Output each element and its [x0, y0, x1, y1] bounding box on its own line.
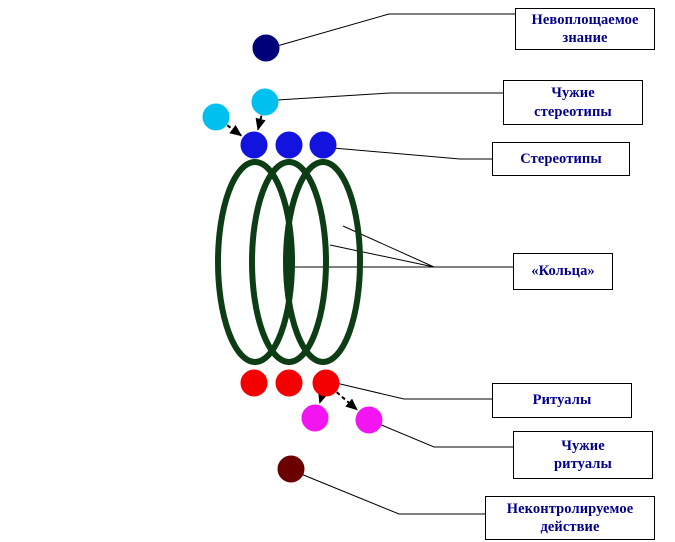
node-ritual-2[interactable]: Ритуалы: [276, 370, 302, 396]
connector-foreign-stereotypes: [277, 93, 503, 100]
node-foreign-stereotype-2[interactable]: Чужие стереотипы: [252, 89, 278, 115]
connector-lines: [277, 14, 515, 514]
node-foreign-stereotype-1[interactable]: Чужие стереотипы: [203, 104, 229, 130]
ring-shapes: [218, 162, 360, 362]
arrow-foreign-stereo-2-to-stereo: [258, 116, 262, 130]
node-uncontrolled-action[interactable]: Неконтролируемое действие: [278, 456, 304, 482]
arrow-foreign-stereo-1-to-stereo: [227, 125, 241, 135]
connector-unrealized-knowledge: [277, 14, 515, 46]
node-stereotype-2[interactable]: Стереотипы: [276, 132, 302, 158]
label-box-rings[interactable]: «Кольца»: [513, 253, 613, 290]
label-box-foreign-stereotypes[interactable]: Чужие стереотипы: [503, 80, 643, 125]
connector-foreign-rituals: [379, 424, 513, 447]
label-box-uncontrolled-action[interactable]: Неконтролируемое действие: [485, 496, 655, 540]
connector-rings-c: [330, 245, 434, 267]
connector-stereotypes: [333, 148, 492, 159]
node-ritual-1[interactable]: Ритуалы: [241, 370, 267, 396]
connector-uncontrolled-action: [301, 474, 485, 514]
label-box-stereotypes[interactable]: Стереотипы: [492, 142, 630, 176]
node-foreign-ritual-2[interactable]: Чужие ритуалы: [356, 407, 382, 433]
node-stereotype-3[interactable]: Стереотипы: [310, 132, 336, 158]
node-stereotype-1[interactable]: Стереотипы: [241, 132, 267, 158]
label-box-unrealized-knowledge[interactable]: Невоплощаемое знание: [515, 8, 655, 50]
diagram-canvas: Невоплощаемое знаниеЧужие стереотипыЧужи…: [0, 0, 675, 542]
connector-rituals: [336, 383, 492, 399]
node-foreign-ritual-1[interactable]: Чужие ритуалы: [302, 405, 328, 431]
arrow-ritual-to-foreign-ritual-1: [320, 396, 322, 402]
node-unrealized-knowledge[interactable]: Невоплощаемое знание: [253, 35, 279, 61]
label-box-rituals[interactable]: Ритуалы: [492, 383, 632, 418]
label-box-foreign-rituals[interactable]: Чужие ритуалы: [513, 431, 653, 479]
node-ritual-3[interactable]: Ритуалы: [313, 370, 339, 396]
arrow-ritual-to-foreign-ritual-2: [337, 392, 357, 409]
